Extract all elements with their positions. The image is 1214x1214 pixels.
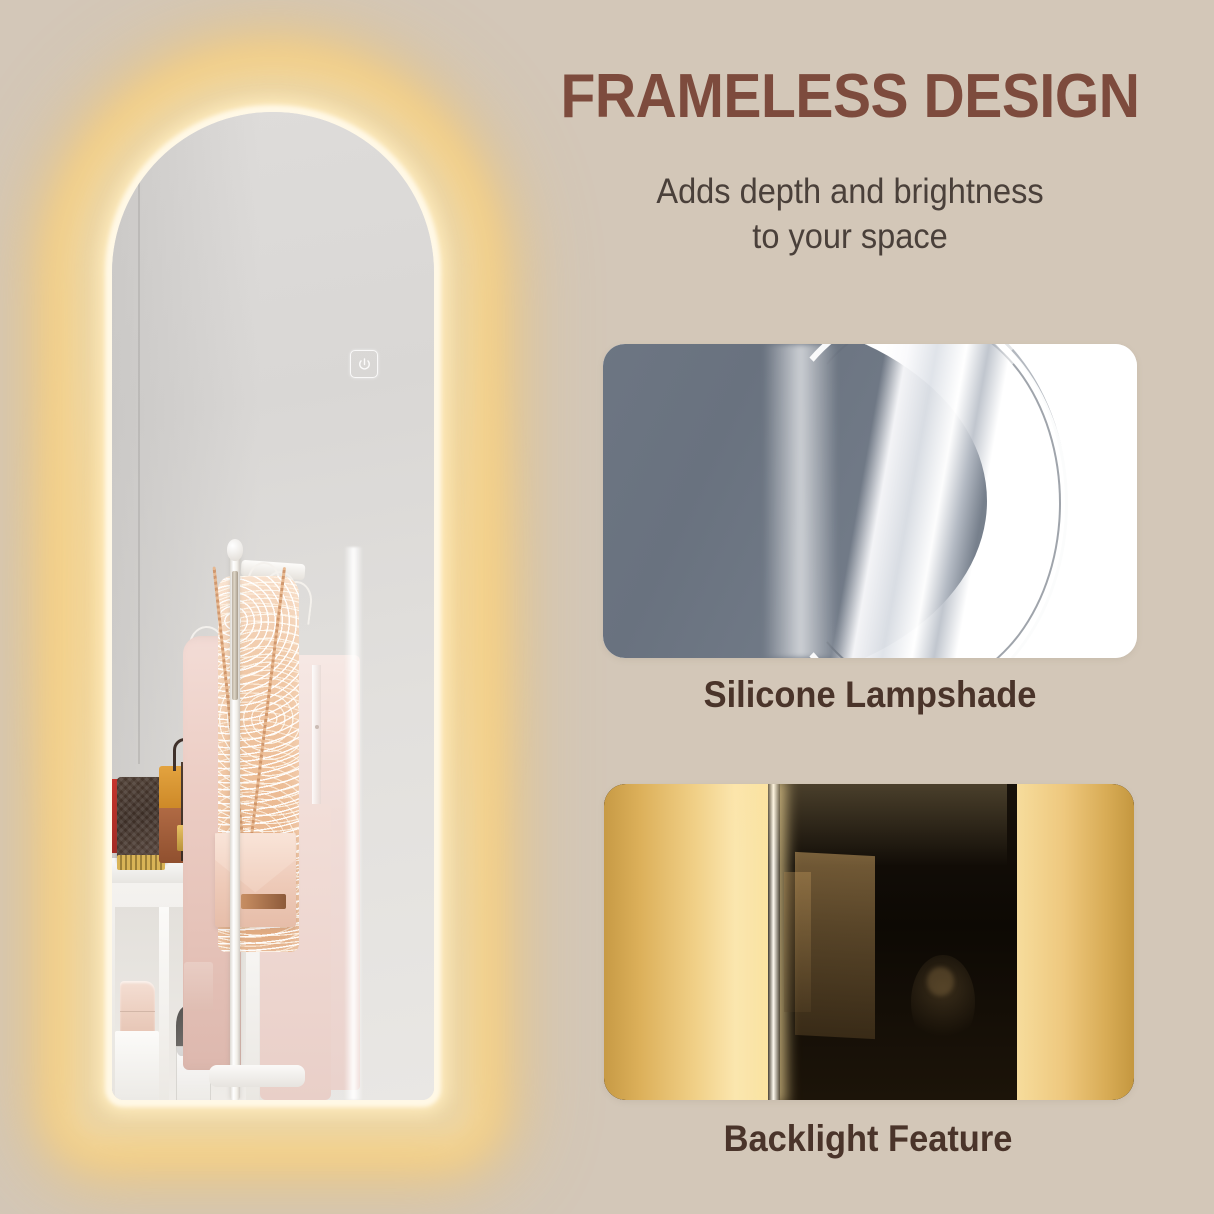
subtitle-line-1: Adds depth and brightness [543, 170, 1157, 215]
card1-highlight [763, 344, 838, 658]
page-title: FRAMELESS DESIGN [528, 66, 1172, 128]
feature-card-backlight [604, 784, 1134, 1100]
towel-fold-line [120, 1011, 155, 1012]
led-floor-mirror [112, 112, 434, 1100]
subtitle-line-2: to your space [543, 215, 1157, 260]
card2-reflected-door [795, 851, 875, 1038]
clutch-metal-bar [241, 894, 286, 909]
blouse-button [315, 725, 319, 729]
card2-right-glow [1017, 784, 1134, 1100]
power-button[interactable] [350, 350, 378, 378]
page-subtitle: Adds depth and brightness to your space [543, 170, 1157, 260]
handbag-gold-chain [117, 855, 165, 870]
garment-rack-cap [227, 539, 244, 561]
caption-backlight-feature: Backlight Feature [620, 1118, 1117, 1160]
marketing-image: FRAMELESS DESIGN Adds depth and brightne… [0, 0, 1214, 1214]
cube-shelf-divider [159, 907, 169, 1100]
shelf-drawer [115, 1031, 158, 1100]
garment-rack-telescoping-section [232, 571, 238, 699]
card2-top-glow [731, 784, 1007, 866]
power-icon [357, 357, 372, 372]
mirror-surface [112, 112, 434, 1100]
caption-silicone-lampshade: Silicone Lampshade [622, 674, 1119, 716]
coat-cuff [184, 962, 213, 1011]
feature-card-silicone-lampshade [603, 344, 1137, 658]
garment-rack-base [209, 1065, 306, 1087]
card2-reflected-highlight [927, 967, 954, 995]
window-light-beam [344, 547, 363, 1100]
wall-corner-line [138, 112, 140, 764]
